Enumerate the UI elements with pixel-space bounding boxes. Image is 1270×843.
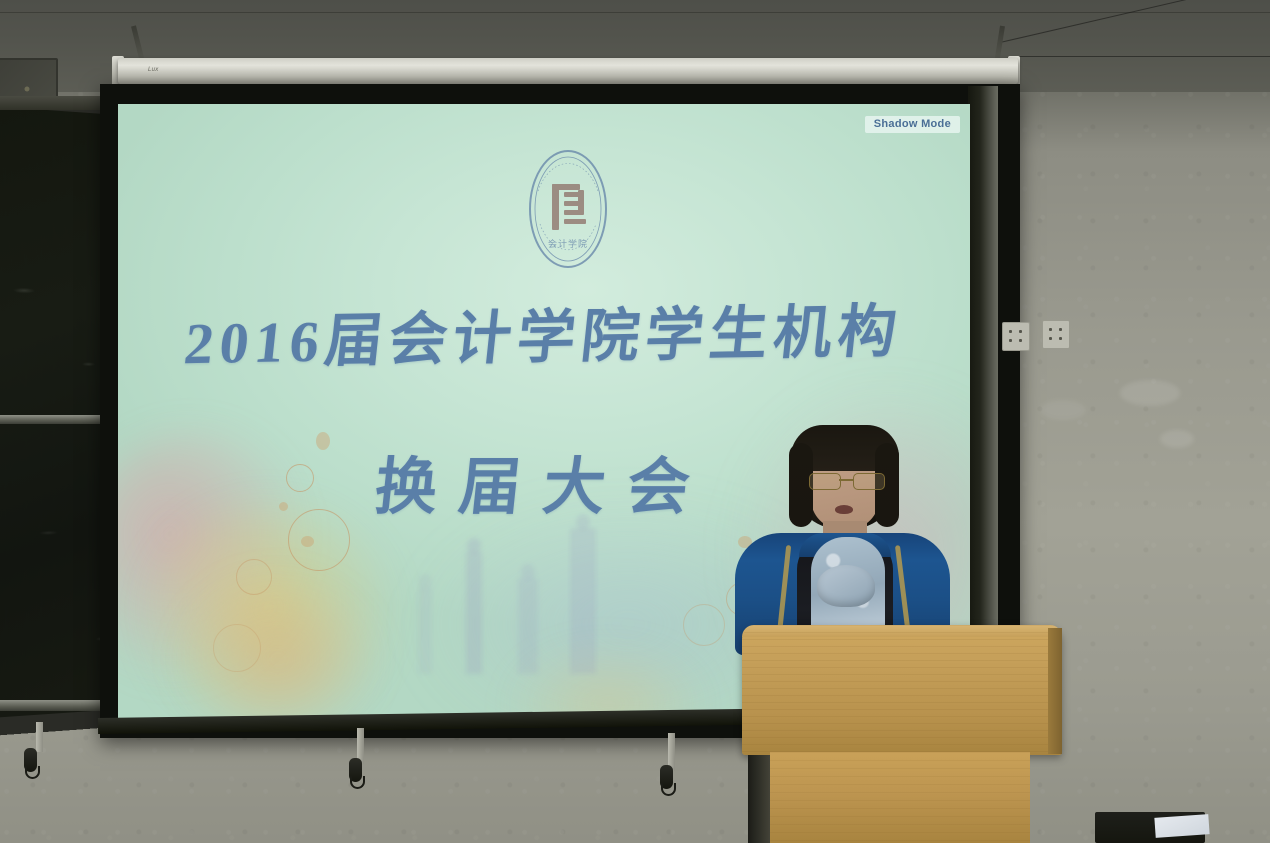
bubble-ring [213, 624, 261, 672]
wall-hook[interactable] [24, 748, 37, 772]
outlet-hole [1009, 339, 1012, 342]
speaker-figure [735, 425, 950, 655]
silhouette-head [521, 564, 535, 580]
paper-sheets [1154, 814, 1209, 838]
mouth [835, 505, 853, 514]
wall-scuff [1160, 430, 1194, 448]
lectern-column [770, 752, 1030, 843]
glasses-bridge [839, 479, 853, 481]
wall-scuff [1120, 380, 1180, 406]
wood-grain [742, 625, 1062, 755]
roller-brand-mark: Lux [148, 67, 159, 73]
lectern-top [742, 625, 1062, 755]
hook-mount-strip [36, 722, 43, 752]
svg-text:会计学院: 会计学院 [548, 238, 588, 250]
outlet-hole [1049, 337, 1052, 340]
wood-grain [770, 752, 1030, 843]
projector-screen-roller[interactable]: Lux [118, 58, 1018, 84]
outlet-hole [1049, 328, 1052, 331]
graduate-silhouette [418, 588, 432, 674]
lectern-side-edge [1048, 628, 1062, 754]
outlet-hole [1019, 339, 1022, 342]
outlet-hole [1019, 330, 1022, 333]
shadow-mode-badge: Shadow Mode [865, 116, 960, 133]
silhouette-head [418, 574, 432, 590]
classroom-scene: Lux [0, 0, 1270, 843]
outlet-hole [1059, 337, 1062, 340]
graduate-silhouette [518, 578, 538, 674]
wall-scuff [1040, 400, 1086, 420]
glasses-lens-right [853, 473, 885, 490]
graduate-silhouette [570, 528, 596, 674]
scarf-knot [817, 565, 875, 607]
power-outlet[interactable] [1002, 322, 1030, 351]
glasses-icon [809, 473, 883, 488]
ceiling-panel-seam [1010, 56, 1270, 57]
bubble-ring [236, 559, 272, 595]
bubble-dot [301, 536, 314, 547]
outlet-hole [1009, 330, 1012, 333]
slide-title-line-1: 2016届会计学院学生机构 [118, 283, 970, 382]
outlet-hole [1059, 328, 1062, 331]
bubble-ring [683, 604, 725, 646]
silhouette-head [467, 538, 481, 554]
accounting-college-seal-icon: 会计学院 [518, 146, 618, 272]
wall-hook[interactable] [349, 758, 362, 782]
wall-hook[interactable] [660, 765, 673, 789]
ceiling-panel-seam [0, 12, 1270, 13]
power-outlet[interactable] [1042, 320, 1070, 349]
glasses-lens-left [809, 473, 841, 490]
graduate-silhouette [466, 552, 482, 674]
